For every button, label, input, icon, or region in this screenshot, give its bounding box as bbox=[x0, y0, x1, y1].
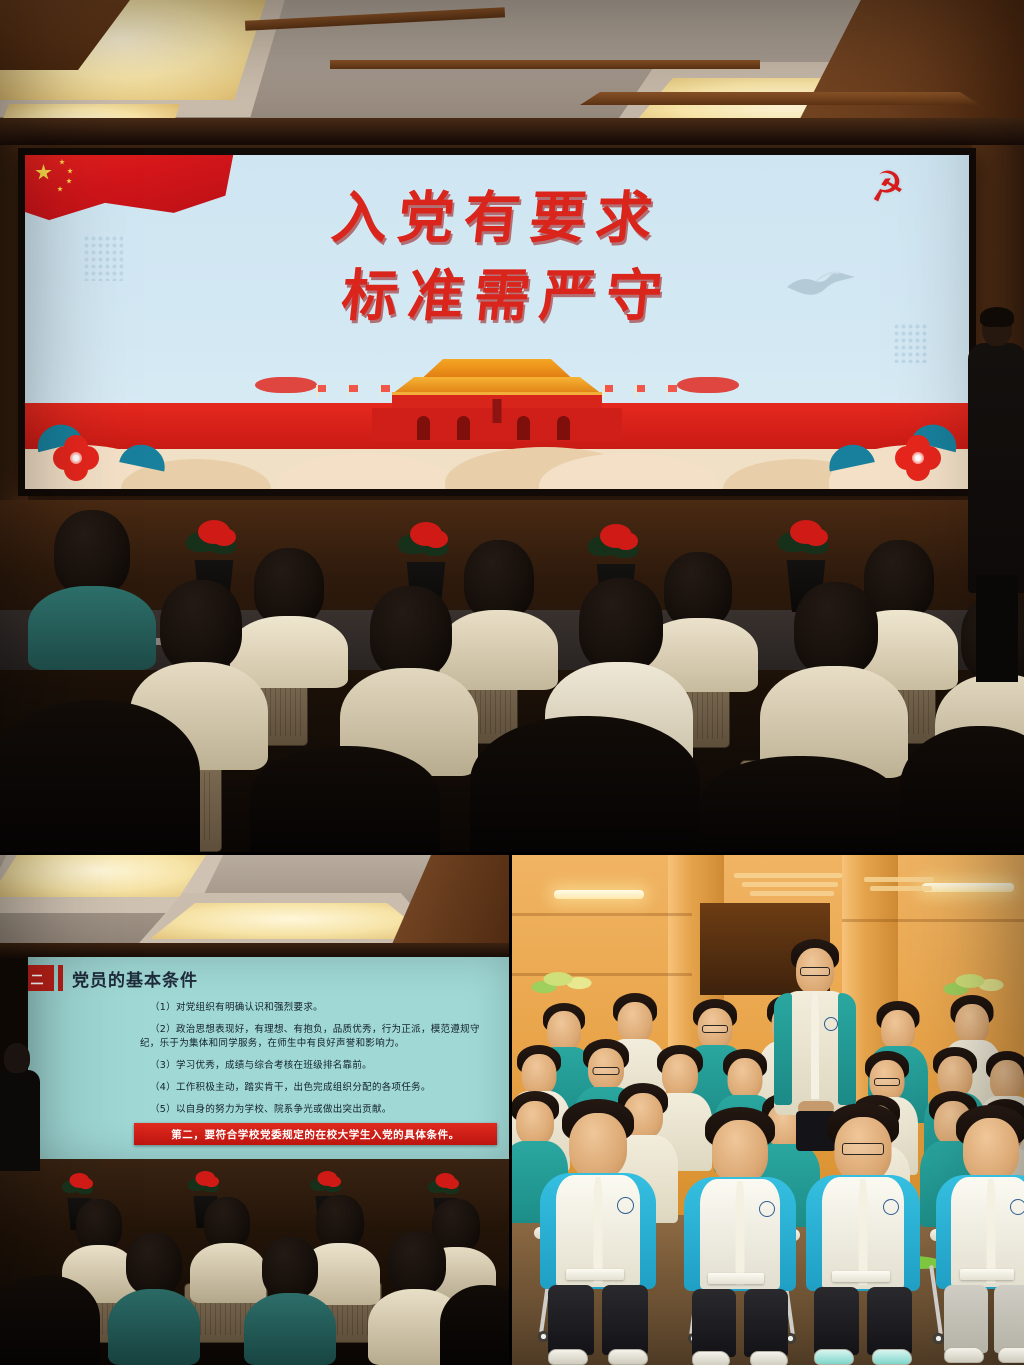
ceiling-beam-2 bbox=[245, 7, 505, 31]
audience-member bbox=[760, 582, 910, 778]
ceiling-beam-1 bbox=[580, 92, 980, 105]
foreground-silhouette bbox=[0, 1275, 100, 1365]
led-screen: ☭ 入党有要求 标准需严守 bbox=[18, 148, 976, 496]
tiananmen-gate-illustration bbox=[372, 359, 622, 441]
foreground-silhouette bbox=[0, 700, 200, 852]
bullet-item: （5）以自身的努力为学校、院系争光或做出突出贡献。 bbox=[140, 1103, 495, 1117]
photo-collage: ☭ 入党有要求 标准需严守 bbox=[0, 0, 1024, 1365]
ceiling-light-2 bbox=[150, 903, 432, 939]
ceiling-light-1 bbox=[0, 855, 210, 897]
presenter-silhouette bbox=[0, 1043, 40, 1171]
slide-bullet-list: （1）对党组织有明确认识和强烈要求。 （2）政治思想表现好，有理想、有抱负，品质… bbox=[140, 1001, 495, 1125]
blossom-decor-right bbox=[895, 435, 941, 481]
arc-decoration bbox=[34, 1001, 144, 1141]
slide-highlight-banner: 第二，要符合学校党委规定的在校大学生入党的具体条件。 bbox=[134, 1123, 497, 1145]
panel-lecture-hall: ☭ 入党有要求 标准需严守 bbox=[0, 0, 1024, 852]
bullet-item: （3）学习优秀，成绩与综合考核在班级排名靠前。 bbox=[140, 1059, 495, 1073]
ceiling bbox=[0, 855, 509, 951]
audience-member bbox=[244, 1237, 336, 1365]
slide-title-line-2: 标准需严守 bbox=[41, 259, 973, 333]
bullet-item: （2）政治思想表现好，有理想、有抱负，品质优秀，行为正派，模范遵规守纪，乐于为集… bbox=[140, 1023, 495, 1051]
foreground-silhouette bbox=[440, 1285, 509, 1365]
audience-member bbox=[108, 1233, 200, 1365]
light-tube-1 bbox=[554, 890, 644, 899]
foreground-silhouette bbox=[700, 756, 900, 852]
slide-accent-bar bbox=[58, 965, 63, 991]
blossom-decor-left bbox=[53, 435, 99, 481]
slide-bottom-decoration bbox=[25, 357, 969, 489]
bullet-item: （1）对党组织有明确认识和强烈要求。 bbox=[140, 1001, 495, 1015]
front-row-student bbox=[936, 1105, 1024, 1365]
lobby-plant-left bbox=[530, 959, 600, 999]
slide-title-line-1: 入党有要求 bbox=[21, 181, 973, 255]
bullet-item: （4）工作积极主动，踏实肯干，出色完成组织分配的各项任务。 bbox=[140, 1081, 495, 1095]
front-row-student bbox=[806, 1103, 920, 1365]
foreground-silhouette bbox=[470, 716, 700, 852]
foreground-silhouette bbox=[250, 746, 440, 852]
presenter-standing bbox=[968, 310, 1024, 682]
panel-divider-vertical bbox=[509, 852, 512, 1365]
slide-title: 入党有要求 标准需严守 bbox=[25, 181, 969, 333]
slide-heading: 党员的基本条件 bbox=[72, 966, 198, 991]
panel-slide-conditions: 二 党员的基本条件 （1）对党组织有明确认识和强烈要求。 （2）政治思想表现好，… bbox=[0, 855, 509, 1365]
front-row-student bbox=[540, 1099, 656, 1365]
led-screen-slide: 二 党员的基本条件 （1）对党组织有明确认识和强烈要求。 （2）政治思想表现好，… bbox=[28, 957, 509, 1159]
panel-group-photo bbox=[512, 855, 1024, 1365]
front-row-student bbox=[684, 1107, 796, 1365]
light-tube-2 bbox=[922, 883, 1014, 892]
panel-divider-horizontal bbox=[0, 852, 1024, 855]
slide-badge: 二 bbox=[28, 965, 54, 991]
ceiling-beam-3 bbox=[330, 60, 760, 69]
